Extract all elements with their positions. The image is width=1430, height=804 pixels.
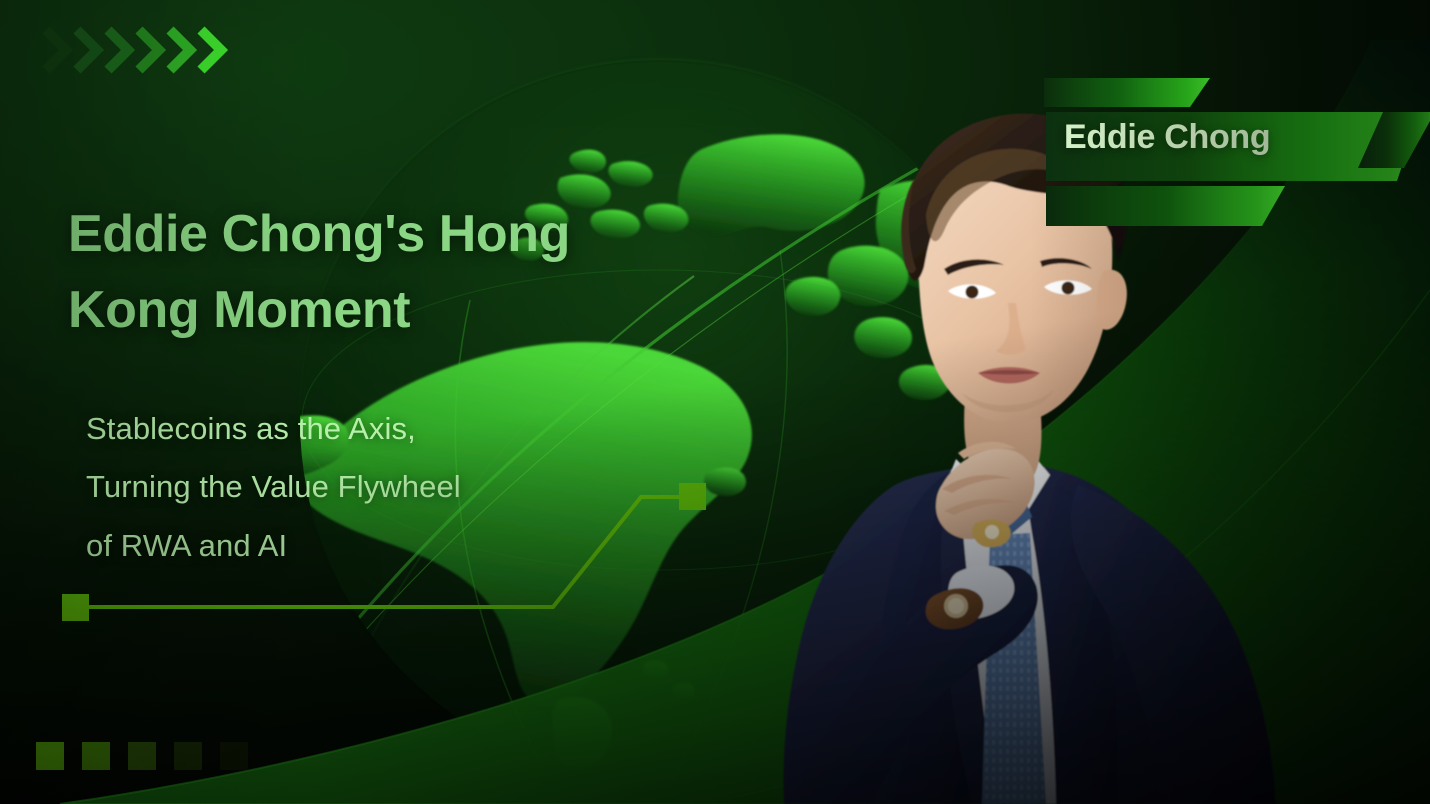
presentation-slide: Eddie Chong's Hong Kong Moment Stablecoi… xyxy=(0,0,1430,804)
background-vignette xyxy=(0,0,1430,804)
